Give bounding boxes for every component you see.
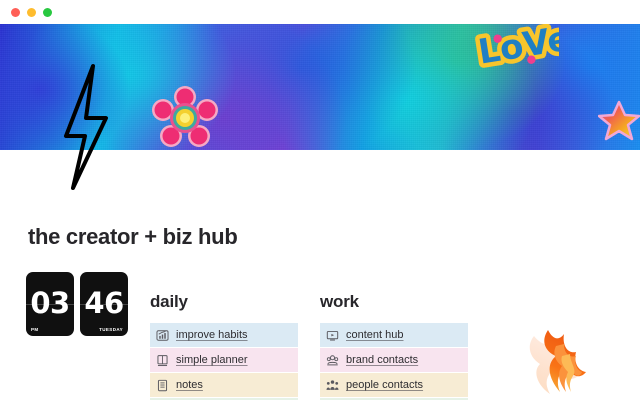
list-item-brand-contacts[interactable]: brand contacts (320, 348, 468, 372)
traffic-lights (11, 8, 52, 17)
flip-clock-hours-card: 03 PM (26, 272, 74, 336)
list-item-people-contacts[interactable]: people contacts (320, 373, 468, 397)
list-item-label: improve habits (176, 329, 248, 341)
list-item-notes[interactable]: notes (150, 373, 298, 397)
banner-grain-texture (0, 24, 640, 150)
flip-clock-hours: 03 (26, 289, 74, 318)
notes-icon (156, 379, 169, 392)
flip-clock-widget[interactable]: 03 PM 46 TUESDAY (26, 272, 128, 336)
cover-banner[interactable] (0, 24, 640, 150)
list-item-label: notes (176, 379, 203, 391)
flip-clock-minutes: 46 (80, 289, 128, 318)
monitor-play-icon (326, 329, 339, 342)
list-item-label: content hub (346, 329, 404, 341)
flip-clock-minutes-card: 46 TUESDAY (80, 272, 128, 336)
people-group-icon (326, 354, 339, 367)
flip-clock-weekday: TUESDAY (99, 328, 123, 333)
list-item-simple-planner[interactable]: simple planner (150, 348, 298, 372)
column-heading-daily: daily (150, 292, 298, 312)
column-heading-work: work (320, 292, 468, 312)
column-daily: daily improve habits simple planner (150, 292, 298, 400)
column-work: work content hub brand contacts (320, 292, 468, 400)
page-title: the creator + biz hub (28, 224, 237, 250)
close-button[interactable] (11, 8, 20, 17)
list-item-label: people contacts (346, 379, 423, 391)
link-columns: daily improve habits simple planner (150, 292, 468, 400)
zoom-button[interactable] (43, 8, 52, 17)
list-item-content-hub[interactable]: content hub (320, 323, 468, 347)
minimize-button[interactable] (27, 8, 36, 17)
book-icon (156, 354, 169, 367)
banner-gradient (0, 24, 640, 150)
bar-chart-icon (156, 329, 169, 342)
list-item-label: simple planner (176, 354, 248, 366)
app-window: LoVe LoVe the creator + biz hub 03 PM 46… (0, 0, 640, 400)
flip-clock-meridiem: PM (31, 328, 39, 333)
window-titlebar (0, 0, 640, 24)
flame-icon (516, 322, 626, 400)
list-item-label: brand contacts (346, 354, 418, 366)
list-item-improve-habits[interactable]: improve habits (150, 323, 298, 347)
three-people-icon (326, 379, 339, 392)
